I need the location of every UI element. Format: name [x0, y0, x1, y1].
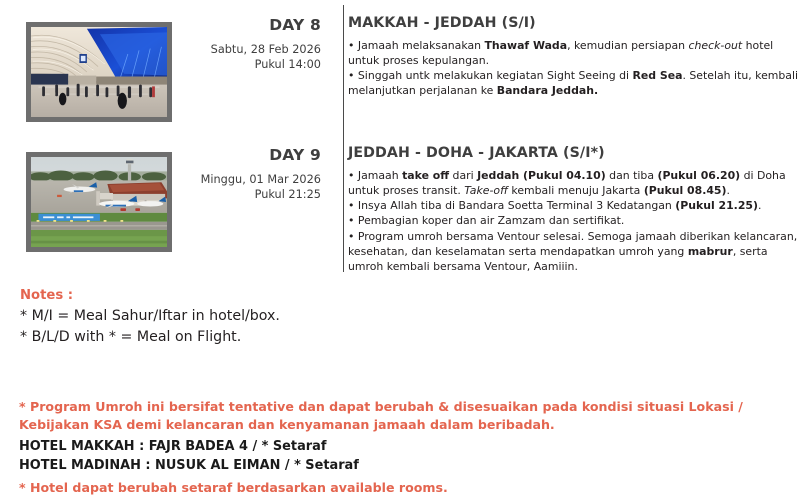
soekarno-hatta-airport-photo — [26, 152, 172, 252]
day-date: Sabtu, 28 Feb 2026 — [180, 43, 321, 58]
day9-activity-list: • Jamaah take off dari Jeddah (Pukul 04.… — [348, 168, 800, 274]
jeddah-airport-terminal-photo — [26, 22, 172, 122]
day8-activity-list: • Jamaah melaksanakan Thawaf Wada, kemud… — [348, 38, 800, 99]
notes-line-meal-hotel: * M/I = Meal Sahur/Iftar in hotel/box. — [20, 306, 520, 327]
day-time: Pukul 14:00 — [180, 58, 321, 73]
activity-line: • Singgah untk melakukan kegiatan Sight … — [348, 68, 800, 98]
notes-heading: Notes : — [20, 288, 520, 303]
hotel-makkah-line: HOTEL MAKKAH : FAJR BADEA 4 / * Setaraf — [19, 437, 794, 456]
hotel-change-note: * Hotel dapat berubah setaraf berdasarka… — [19, 479, 794, 497]
photo-cell-day9 — [0, 144, 180, 252]
activity-line: • Jamaah take off dari Jeddah (Pukul 04.… — [348, 168, 800, 198]
date-cell-day9: DAY 9 Minggu, 01 Mar 2026 Pukul 21:25 — [180, 144, 335, 203]
activity-line: • Jamaah melaksanakan Thawaf Wada, kemud… — [348, 38, 800, 68]
description-cell-day8: MAKKAH - JEDDAH (S/I) • Jamaah melaksana… — [335, 14, 800, 99]
program-disclaimer: * Program Umroh ini bersifat tentative d… — [19, 398, 794, 434]
activity-line: • Program umroh bersama Ventour selesai.… — [348, 229, 800, 274]
itinerary-row-day8: DAY 8 Sabtu, 28 Feb 2026 Pukul 14:00 MAK… — [0, 14, 800, 122]
day-label: DAY 8 — [180, 16, 321, 34]
day-date: Minggu, 01 Mar 2026 — [180, 173, 321, 188]
notes-section: Notes : * M/I = Meal Sahur/Iftar in hote… — [20, 288, 520, 349]
activity-line: • Insya Allah tiba di Bandara Soetta Ter… — [348, 198, 800, 213]
date-cell-day8: DAY 8 Sabtu, 28 Feb 2026 Pukul 14:00 — [180, 14, 335, 73]
footer-section: * Program Umroh ini bersifat tentative d… — [19, 398, 794, 497]
description-cell-day9: JEDDAH - DOHA - JAKARTA (S/I*) • Jamaah … — [335, 144, 800, 274]
day-time: Pukul 21:25 — [180, 188, 321, 203]
day-label: DAY 9 — [180, 146, 321, 164]
photo-cell-day8 — [0, 14, 180, 122]
hotel-madinah-line: HOTEL MADINAH : NUSUK AL EIMAN / * Setar… — [19, 456, 794, 475]
day8-route-title: MAKKAH - JEDDAH (S/I) — [348, 15, 800, 31]
itinerary-row-day9: DAY 9 Minggu, 01 Mar 2026 Pukul 21:25 JE… — [0, 144, 800, 274]
notes-line-meal-flight: * B/L/D with * = Meal on Flight. — [20, 327, 520, 348]
activity-line: • Pembagian koper dan air Zamzam dan ser… — [348, 213, 800, 228]
day9-route-title: JEDDAH - DOHA - JAKARTA (S/I*) — [348, 145, 800, 161]
